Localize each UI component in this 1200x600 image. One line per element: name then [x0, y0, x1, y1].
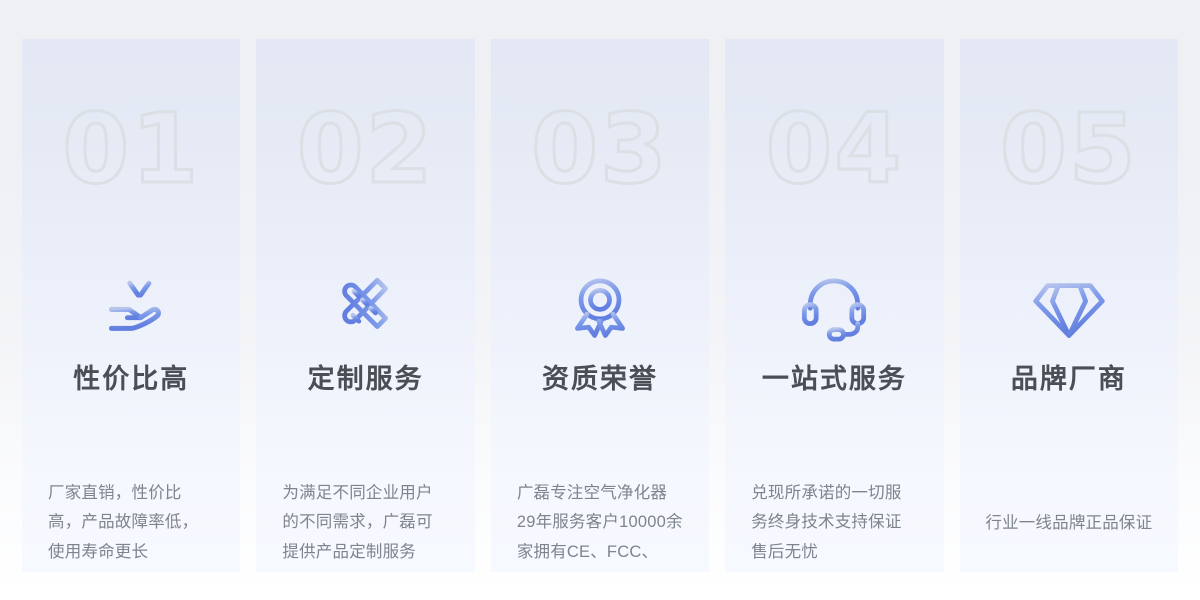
card-index-number: 01 — [22, 101, 240, 197]
card-title: 一站式服务 — [725, 363, 943, 395]
card-description: 行业一线品牌正品保证 — [970, 509, 1168, 538]
feature-card[interactable]: 04 — [725, 39, 943, 572]
award-ribbon-icon — [491, 261, 709, 353]
card-description: 为满足不同企业用户的不同需求，广磊可提供产品定制服务 — [282, 479, 448, 567]
card-description: 厂家直销，性价比高，产品故障率低，使用寿命更长 — [48, 479, 214, 567]
feature-card-list: 01 — [22, 39, 1178, 572]
card-index-number: 04 — [725, 101, 943, 197]
card-index-number: 03 — [491, 101, 709, 197]
card-title: 定制服务 — [256, 363, 474, 395]
feature-card[interactable]: 03 — [491, 39, 709, 572]
card-title: 资质荣誉 — [491, 363, 709, 395]
card-title: 品牌厂商 — [960, 363, 1178, 395]
hand-holding-yuan-icon — [22, 261, 240, 353]
card-description: 兑现所承诺的一切服务终身技术支持保证售后无忧 — [751, 479, 917, 567]
card-index-number: 02 — [256, 101, 474, 197]
feature-highlights-banner: 01 — [0, 0, 1200, 600]
feature-card[interactable]: 01 — [22, 39, 240, 572]
card-index-number: 05 — [960, 101, 1178, 197]
card-title: 性价比高 — [22, 363, 240, 395]
feature-card[interactable]: 02 — [256, 39, 474, 572]
pen-and-ruler-icon — [256, 261, 474, 353]
feature-card[interactable]: 05 — [960, 39, 1178, 572]
headset-icon — [725, 261, 943, 353]
card-description: 广磊专注空气净化器29年服务客户10000余家拥有CE、FCC、ETL等各项认证 — [517, 479, 683, 572]
diamond-icon — [960, 261, 1178, 353]
